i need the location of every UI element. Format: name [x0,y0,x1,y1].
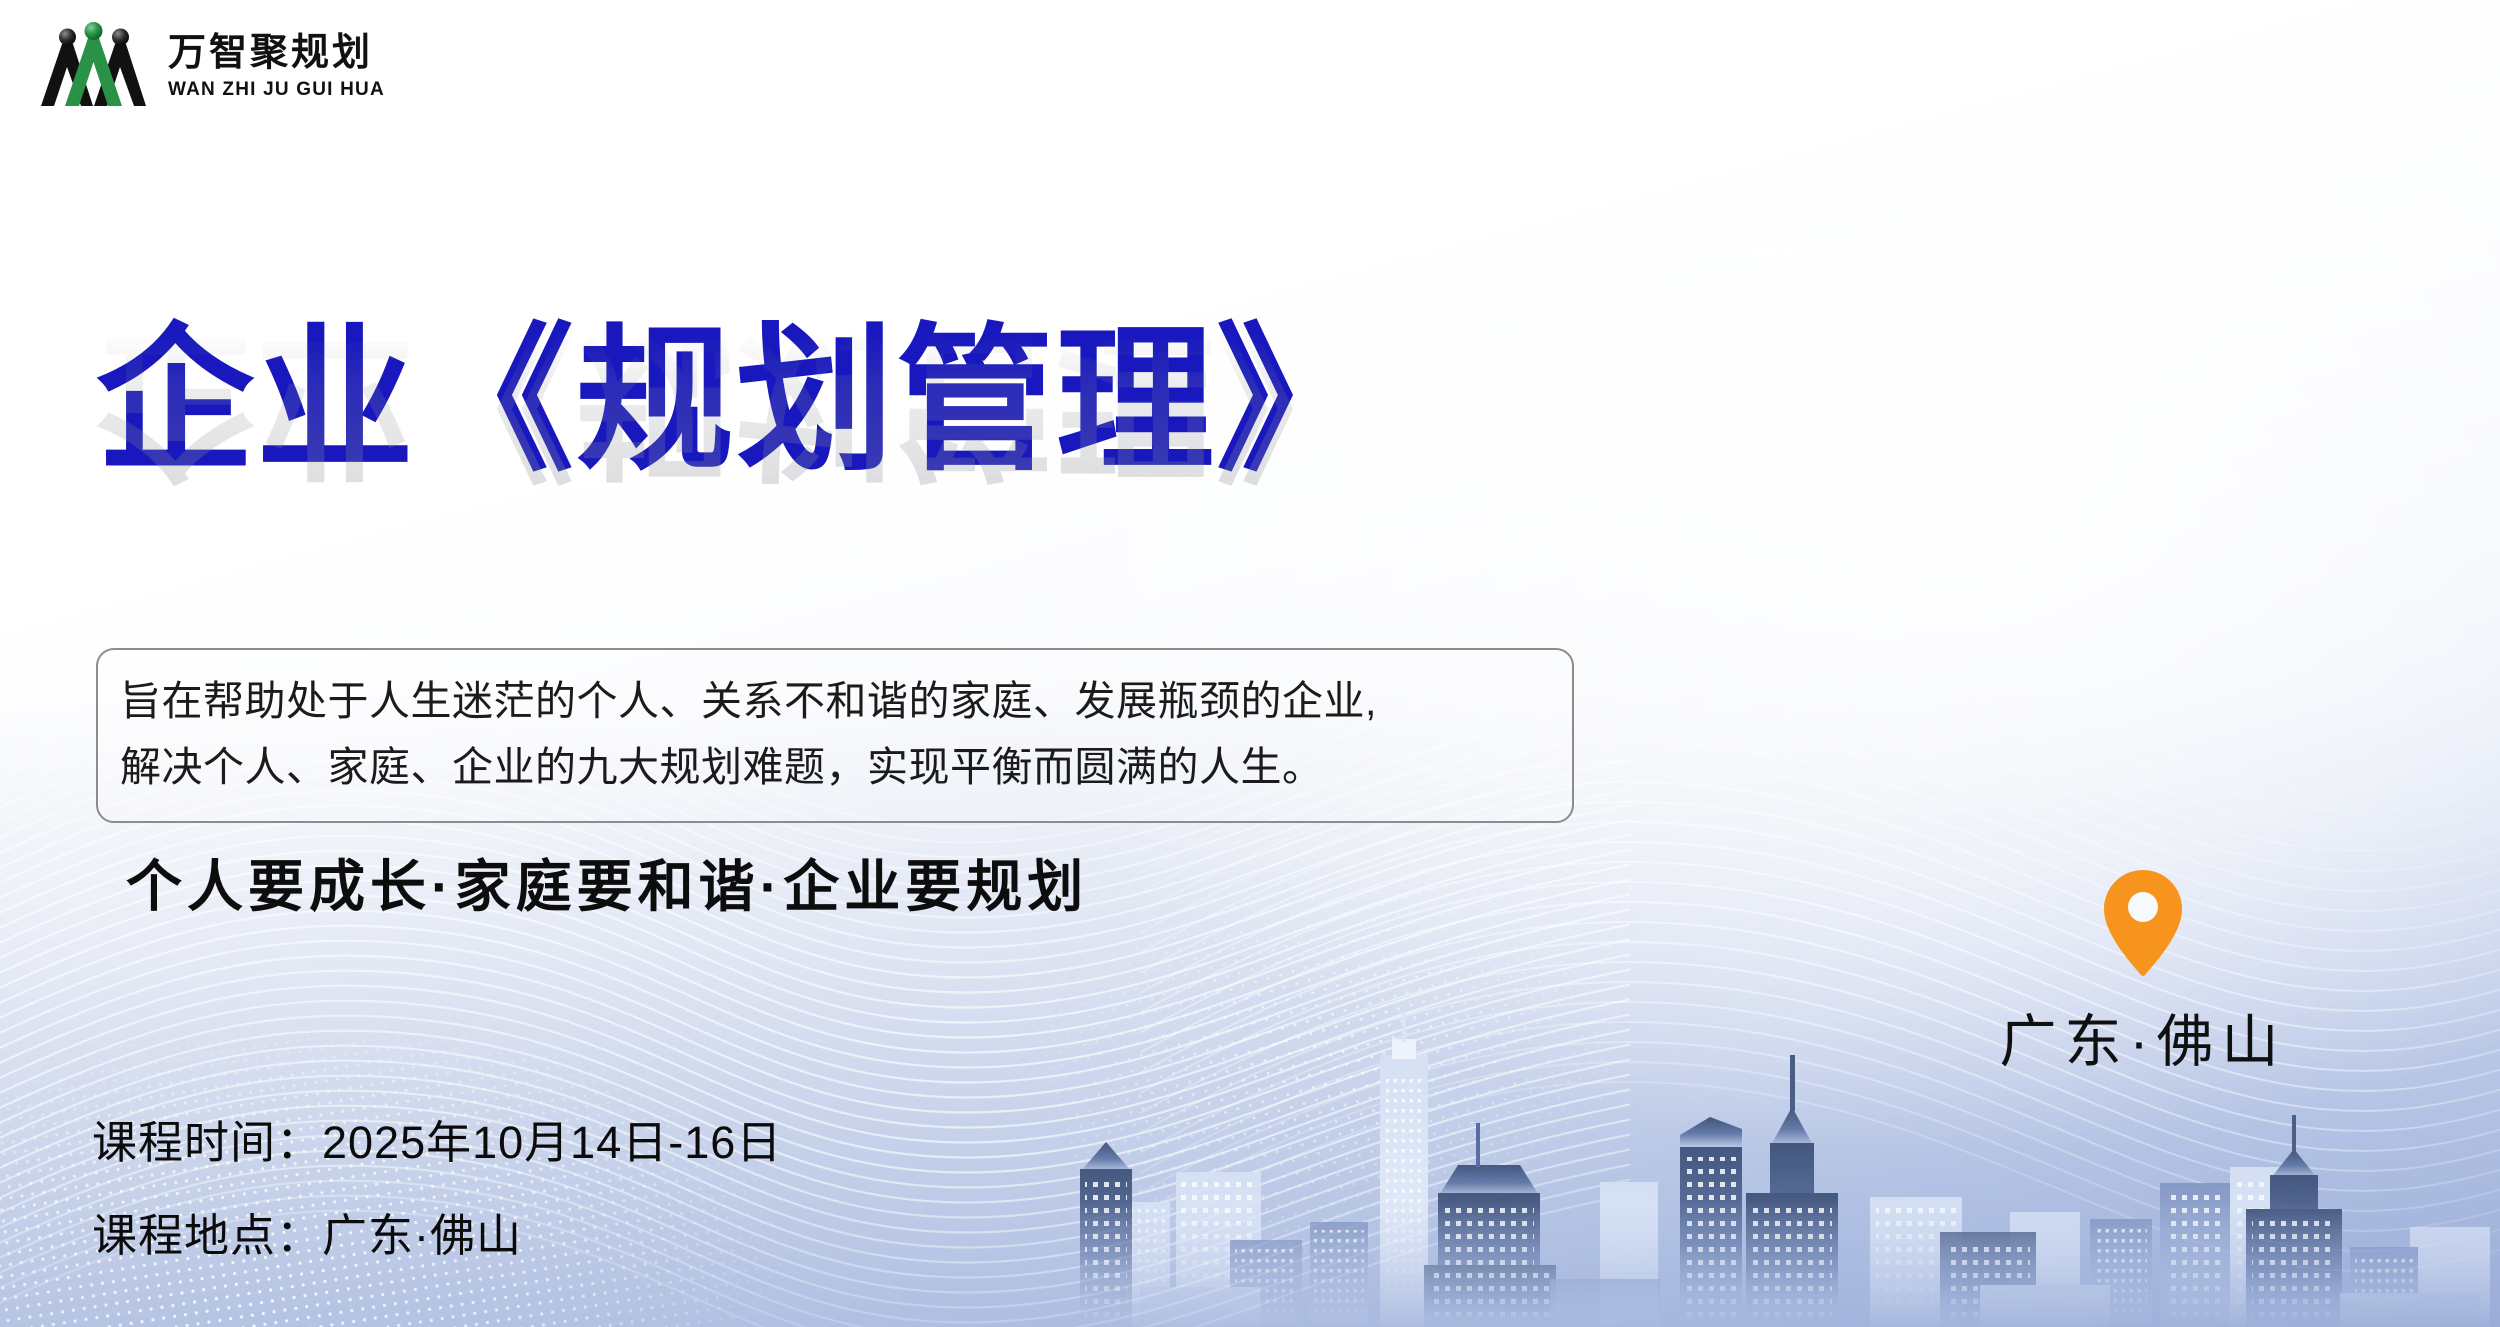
location-pin-icon [2101,868,2185,978]
course-date: 课程时间：2025年10月14日-16日 [92,1120,782,1165]
location-badge: 广东·佛山 [1963,868,2323,1078]
course-info: 课程时间：2025年10月14日-16日 课程地点：广东·佛山 [92,1120,782,1258]
poster-canvas: 万智聚规划 WAN ZHI JU GUI HUA 企业《规划管理》 企业《规划管… [0,0,2500,1327]
brand-name-en: WAN ZHI JU GUI HUA [168,80,385,99]
brand-logo: 万智聚规划 WAN ZHI JU GUI HUA [38,20,385,112]
brand-name-cn: 万智聚规划 [168,34,385,72]
headline-block: 企业《规划管理》 企业《规划管理》 [96,318,1616,485]
brand-logo-text: 万智聚规划 WAN ZHI JU GUI HUA [168,34,385,99]
description-box: 旨在帮助处于人生迷茫的个人、关系不和谐的家庭、发展瓶颈的企业, 解决个人、家庭、… [96,648,1574,823]
description-line-2: 解决个人、家庭、企业的九大规划难题，实现平衡而圆满的人生。 [120,734,1550,800]
location-name: 广东·佛山 [1963,996,2323,1078]
tagline: 个人要成长·家庭要和谐·企业要规划 [126,842,1088,923]
page-title-reflection: 企业《规划管理》 [96,319,1376,486]
three-people-m-logo-icon [38,20,150,112]
course-place: 课程地点：广东·佛山 [92,1213,782,1258]
description-line-1: 旨在帮助处于人生迷茫的个人、关系不和谐的家庭、发展瓶颈的企业, [120,668,1550,734]
